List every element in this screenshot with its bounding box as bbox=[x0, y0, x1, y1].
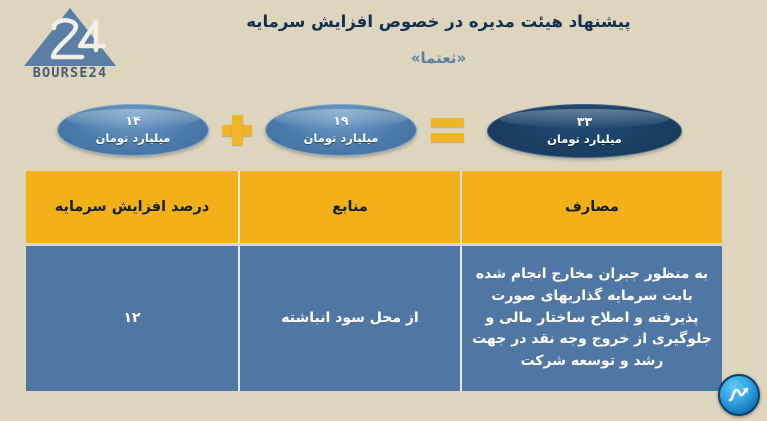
table-header-row: مصارف منابع درصد افزایش سرمایه bbox=[26, 171, 722, 243]
column-header-sources: منابع bbox=[238, 171, 460, 243]
sources-amount-unit: میلیارد تومان bbox=[96, 132, 171, 146]
page-title: پیشنهاد هیئت مدیره در خصوص افزایش سرمایه bbox=[130, 10, 747, 35]
capital-increase-table: مصارف منابع درصد افزایش سرمایه به منظور … bbox=[26, 171, 722, 391]
sources-amount-bubble: ۱۴ میلیارد تومان bbox=[57, 104, 209, 156]
uses-amount-bubble: ۱۹ میلیارد تومان bbox=[265, 104, 417, 156]
slide-canvas: BOURSE24 پیشنهاد هیئت مدیره در خصوص افزا… bbox=[0, 0, 767, 421]
bourse24-triangle-logo-icon bbox=[20, 6, 120, 68]
stock-chart-arrow-icon bbox=[718, 374, 760, 416]
equals-operator-icon bbox=[431, 117, 464, 143]
brand-wordmark: BOURSE24 bbox=[18, 65, 122, 81]
total-amount-value: ۳۳ bbox=[577, 115, 592, 129]
plus-operator-icon bbox=[222, 115, 252, 145]
cell-percent: ۱۲ bbox=[26, 246, 238, 391]
cell-sources: از محل سود انباشته bbox=[238, 246, 460, 391]
column-header-percent: درصد افزایش سرمایه bbox=[26, 171, 238, 243]
total-amount-bubble: ۳۳ میلیارد تومان bbox=[487, 104, 682, 158]
column-header-uses: مصارف bbox=[460, 171, 722, 243]
brand-logo: BOURSE24 bbox=[18, 6, 122, 88]
summary-equation: ۳۳ میلیارد تومان ۱۹ میلیارد تومان ۱۴ میل… bbox=[0, 97, 767, 159]
cell-uses: به منظور جبران مخارج انجام شده بابت سرما… bbox=[460, 246, 722, 391]
total-amount-unit: میلیارد تومان bbox=[547, 133, 622, 147]
sources-amount-value: ۱۴ bbox=[125, 114, 140, 128]
table-row: به منظور جبران مخارج انجام شده بابت سرما… bbox=[26, 246, 722, 391]
header: پیشنهاد هیئت مدیره در خصوص افزایش سرمایه… bbox=[130, 10, 747, 67]
uses-amount-unit: میلیارد تومان bbox=[304, 132, 379, 146]
page-subtitle: «ثعتما» bbox=[130, 49, 747, 67]
uses-amount-value: ۱۹ bbox=[333, 114, 348, 128]
